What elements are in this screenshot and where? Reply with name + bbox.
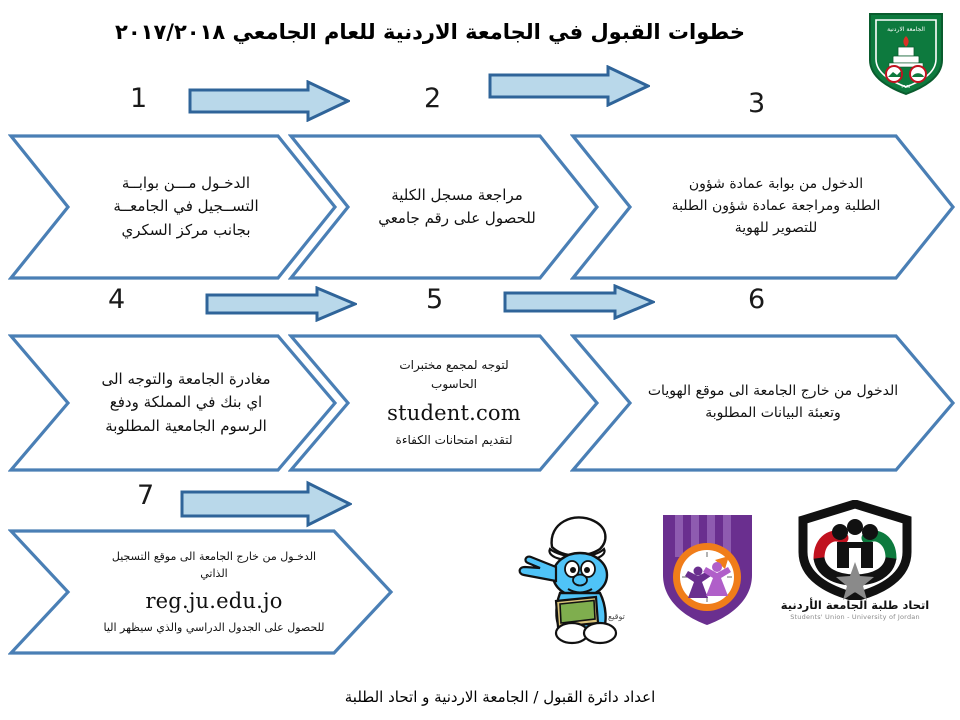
step-7-line-4: للحصول على الجدول الدراسي والذي سيظهر ال…: [103, 619, 324, 636]
step-6-line-3: وتعبئة البيانات المطلوبة: [705, 403, 840, 425]
step-number-4: 4: [108, 286, 125, 313]
step-box-5: لتوجه لمجمع مختبرات الحاسوب student.com …: [288, 333, 600, 473]
step-1-line-2: التســجيل في الجامعــة: [113, 195, 258, 218]
step-7-line-2: الذاتي: [200, 565, 227, 582]
connector-arrow-7: [180, 480, 352, 528]
step-number-6: 6: [748, 286, 765, 313]
step-box-6: الدخول من خارج الجامعة الى موقع الهويات …: [570, 333, 956, 473]
purple-shield-clock-logo: [655, 505, 760, 630]
step-3-line-1: الدخول من بوابة عمادة شؤون: [689, 174, 863, 196]
step-1-line-3: بجانب مركز السكري: [121, 219, 250, 242]
step-box-5-text: لتوجه لمجمع مختبرات الحاسوب student.com …: [344, 333, 564, 473]
step-box-1-text: الدخـول مـــن بوابــة التســجيل في الجام…: [70, 133, 302, 281]
svg-text:الجامعة الاردنية: الجامعة الاردنية: [887, 26, 925, 33]
step-4-line-1: مغادرة الجامعة والتوجه الى: [101, 368, 270, 391]
footer: اعداد دائرة القبول / الجامعة الاردنية و …: [0, 687, 960, 706]
students-union-arabic-text: اتحاد طلبة الجامعة الأردنية: [775, 598, 935, 612]
step-box-7: الدخـول من خارج الجامعة الى موقع التسجيل…: [8, 528, 394, 656]
page-title-text: خطوات القبول في الجامعة الاردنية للعام ا…: [115, 20, 745, 44]
step-box-3-text: الدخول من بوابة عمادة شؤون الطلبة ومراجع…: [632, 133, 920, 281]
step-box-2: مراجعة مسجل الكلية للحصول على رقم جامعي: [288, 133, 600, 281]
step-box-2-text: مراجعة مسجل الكلية للحصول على رقم جامعي: [350, 133, 564, 281]
students-union-caption: اتحاد طلبة الجامعة الأردنية Students' Un…: [775, 598, 935, 621]
poster-canvas: خطوات القبول في الجامعة الاردنية للعام ا…: [0, 0, 960, 720]
step-4-line-3: الرسوم الجامعية المطلوبة: [105, 415, 267, 438]
step-box-3: الدخول من بوابة عمادة شؤون الطلبة ومراجع…: [570, 133, 956, 281]
step-number-5: 5: [426, 286, 443, 313]
connector-arrow-4-to-5: [205, 286, 357, 322]
step-2-line-1: مراجعة مسجل الكلية: [391, 184, 523, 207]
step-box-7-text: الدخـول من خارج الجامعة الى موقع التسجيل…: [66, 528, 362, 656]
connector-arrow-2-to-3: [488, 65, 650, 107]
step-7-line-1: الدخـول من خارج الجامعة الى موقع التسجيل: [112, 548, 316, 565]
step-2-line-2: للحصول على رقم جامعي: [378, 207, 536, 230]
step-1-line-1: الدخـول مـــن بوابــة: [122, 172, 250, 195]
step-5-url[interactable]: student.com: [387, 397, 521, 430]
step-number-3: 3: [748, 90, 765, 117]
step-6-line-1: الدخول من خارج الجامعة الى موقع الهويات: [648, 381, 898, 403]
connector-arrow-1-to-2: [188, 80, 350, 122]
smurf-signature: توقيع: [608, 612, 625, 621]
step-5-line-2: الحاسوب: [431, 375, 477, 394]
step-5-line-4: لتقديم امتحانات الكفاءة: [396, 431, 513, 450]
step-5-line-1: لتوجه لمجمع مختبرات: [399, 356, 508, 375]
step-4-line-2: اي بنك في المملكة ودفع: [110, 391, 262, 414]
page-title: خطوات القبول في الجامعة الاردنية للعام ا…: [0, 20, 860, 44]
step-3-line-3: للتصوير للهوية: [735, 218, 818, 240]
step-7-url[interactable]: reg.ju.edu.jo: [145, 585, 282, 618]
step-3-line-2: الطلبة ومراجعة عمادة شؤون الطلبة: [672, 196, 881, 218]
connector-arrow-5-to-6: [503, 284, 655, 320]
step-number-2: 2: [424, 85, 441, 112]
step-number-1: 1: [130, 85, 147, 112]
step-number-7: 7: [137, 482, 154, 509]
step-box-4-text: مغادرة الجامعة والتوجه الى اي بنك في الم…: [70, 333, 302, 473]
university-of-jordan-logo: الجامعة الاردنية ١٩٦٢: [860, 6, 952, 98]
step-box-6-text: الدخول من خارج الجامعة الى موقع الهويات …: [626, 333, 920, 473]
students-union-english-text: Students' Union - University of Jordan: [775, 613, 935, 621]
svg-text:١٩٦٢: ١٩٦٢: [901, 84, 912, 90]
footer-text: اعداد دائرة القبول / الجامعة الاردنية و …: [305, 688, 655, 706]
smurf-mascot-icon: [510, 505, 640, 645]
